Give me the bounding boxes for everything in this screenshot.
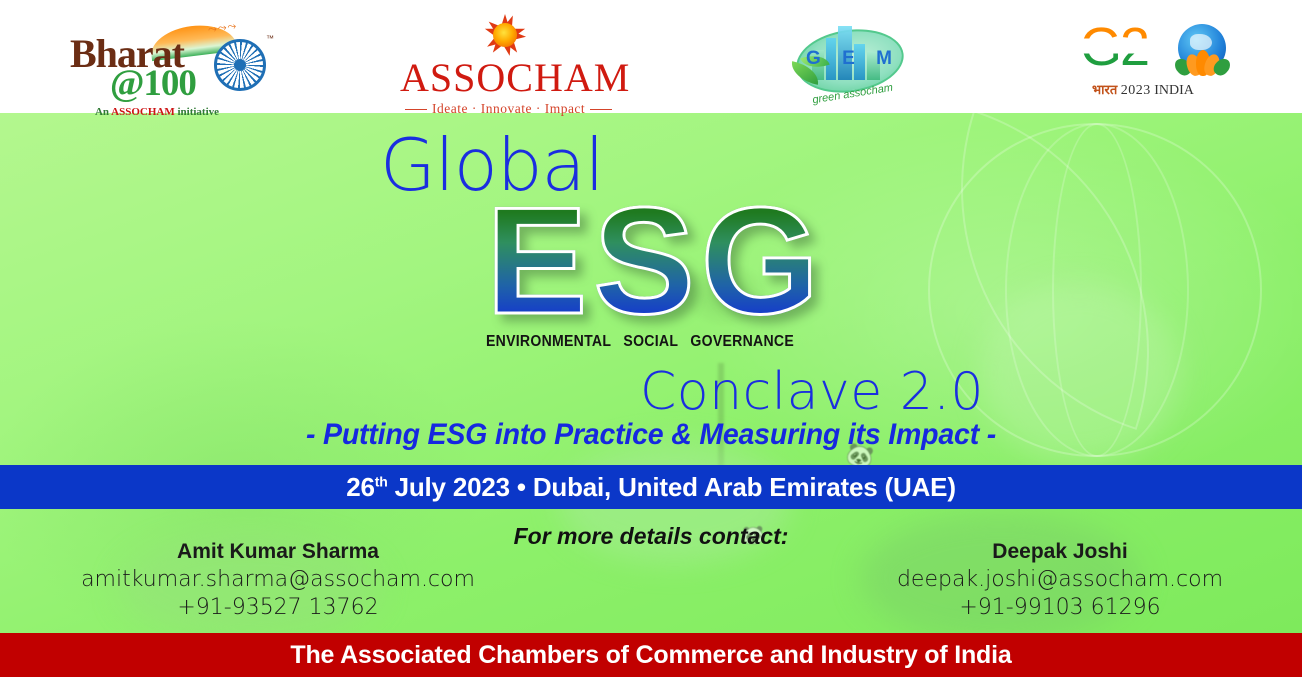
assocham-tagline: Ideate · Innovate · Impact [400, 101, 610, 117]
bharat-logo-subtitle: An ASSOCHAM initiative [62, 106, 252, 118]
date-day: 26 [346, 472, 375, 502]
contact-card: Deepak Joshi deepak.joshi@assocham.com +… [820, 539, 1300, 622]
contact-name: Deepak Joshi [820, 539, 1300, 566]
subtitle-suffix: initiative [175, 106, 219, 118]
assocham-wordmark: ASSOCHAM [400, 58, 610, 98]
gem-letter-e: E [842, 48, 855, 70]
sun-core-icon [493, 23, 517, 47]
esg-label-environmental: ENVIRONMENTAL [486, 333, 611, 351]
date-rest: July 2023 • Dubai, United Arab Emirates … [388, 472, 956, 502]
contact-phone[interactable]: +91-99103 61296 [820, 594, 1300, 622]
esg-label-governance: GOVERNANCE [690, 333, 794, 351]
assocham-logo: ASSOCHAM Ideate · Innovate · Impact [400, 14, 610, 104]
g20-subtitle: भारत 2023 INDIA [1092, 80, 1194, 99]
esg-conclave-banner: ⤳⤳⤳ Bharat @100 ™ An ASSOCHAM initiative… [0, 0, 1302, 677]
subtitle-prefix: An [95, 106, 111, 118]
event-date-bar: 26th July 2023 • Dubai, United Arab Emir… [0, 465, 1302, 509]
g20-logo: G2 भारत 2023 INDIA [1080, 18, 1245, 106]
title-conclave: Conclave 2.0 [640, 366, 984, 418]
date-ordinal: th [375, 473, 388, 489]
g20-subtitle-year: 2023 [1121, 83, 1151, 98]
gem-letter-m: M [876, 48, 892, 70]
trademark-icon: ™ [266, 34, 274, 43]
gem-letter-g: G [806, 48, 821, 70]
contact-email[interactable]: deepak.joshi@assocham.com [820, 566, 1300, 594]
event-tagline: - Putting ESG into Practice & Measuring … [33, 418, 1270, 452]
g20-wordmark: G2 [1080, 20, 1148, 74]
subtitle-brand: ASSOCHAM [111, 106, 175, 118]
g20-subtitle-country: INDIA [1154, 83, 1194, 98]
title-esg-acronym: ESG [486, 185, 825, 337]
birds-icon: ⤳⤳⤳ [207, 20, 238, 37]
main-stage: 🐼 🐼 🐼 Global ESG ENVIRONMENTAL SOCIAL GO… [0, 113, 1302, 633]
gem-letters: G E M [806, 48, 892, 70]
event-date-text: 26th July 2023 • Dubai, United Arab Emir… [346, 472, 956, 503]
lotus-icon [1174, 48, 1232, 78]
gem-green-assocham-logo: G E M green assocham [790, 18, 910, 106]
contact-area: For more details contact: Amit Kumar Sha… [0, 509, 1302, 633]
title-block: Global ESG ENVIRONMENTAL SOCIAL GOVERNAN… [0, 113, 1302, 463]
contact-name: Amit Kumar Sharma [38, 539, 518, 566]
logo-band: ⤳⤳⤳ Bharat @100 ™ An ASSOCHAM initiative… [0, 0, 1302, 113]
tagline-rule-right [590, 109, 612, 110]
sunburst-icon [484, 14, 526, 56]
contact-email[interactable]: amitkumar.sharma@assocham.com [38, 566, 518, 594]
footer-bar: The Associated Chambers of Commerce and … [0, 633, 1302, 677]
contact-phone[interactable]: +91-93527 13762 [38, 594, 518, 622]
esg-label-row: ENVIRONMENTAL SOCIAL GOVERNANCE [486, 333, 794, 351]
ashoka-chakra-icon [214, 39, 266, 91]
at-100-wordmark: @100 [110, 62, 196, 105]
footer-organisation-name: The Associated Chambers of Commerce and … [290, 641, 1011, 670]
g20-subtitle-hindi: भारत [1092, 82, 1117, 97]
esg-label-social: SOCIAL [623, 333, 678, 351]
contact-card: Amit Kumar Sharma amitkumar.sharma@assoc… [38, 539, 518, 622]
tagline-rule-left [405, 109, 427, 110]
bharat-at-100-logo: ⤳⤳⤳ Bharat @100 ™ An ASSOCHAM initiative [62, 18, 252, 106]
tagline-text: Ideate · Innovate · Impact [432, 101, 585, 116]
